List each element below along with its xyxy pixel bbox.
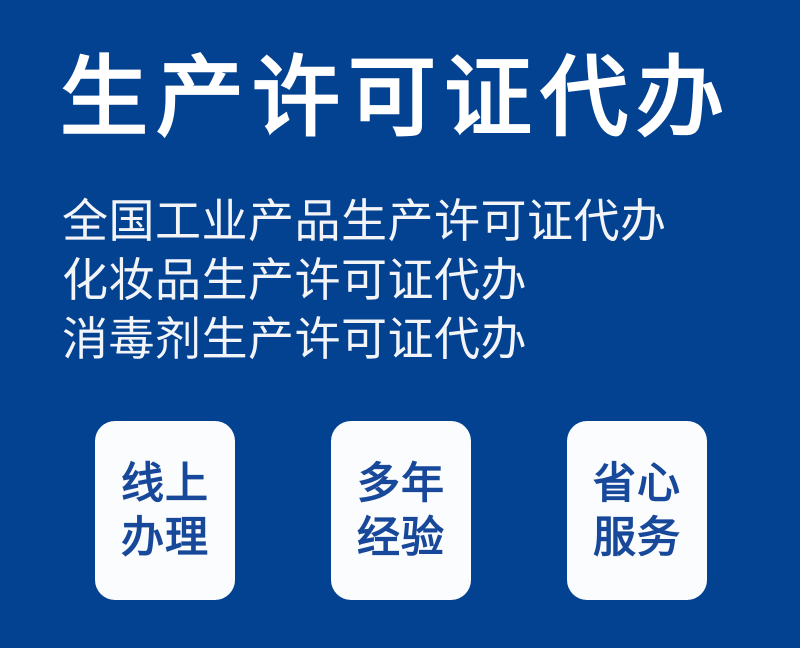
feature-card-line-2: 服务 <box>593 511 681 565</box>
feature-card-line-2: 办理 <box>121 511 209 565</box>
feature-card-worry-free-service[interactable]: 省心 服务 <box>567 421 707 600</box>
feature-card-years-experience[interactable]: 多年 经验 <box>331 421 471 600</box>
service-list-item: 化妆品生产许可证代办 <box>62 251 762 310</box>
promo-banner: 生产许可证代办 全国工业产品生产许可证代办 化妆品生产许可证代办 消毒剂生产许可… <box>0 0 800 648</box>
service-list: 全国工业产品生产许可证代办 化妆品生产许可证代办 消毒剂生产许可证代办 <box>62 192 762 369</box>
service-list-item: 全国工业产品生产许可证代办 <box>62 192 762 251</box>
page-title: 生产许可证代办 <box>60 48 760 148</box>
feature-card-line-1: 多年 <box>357 457 445 511</box>
feature-card-line-1: 省心 <box>593 457 681 511</box>
service-list-item: 消毒剂生产许可证代办 <box>62 310 762 369</box>
feature-card-online-handling[interactable]: 线上 办理 <box>95 421 235 600</box>
feature-card-group: 线上 办理 多年 经验 省心 服务 <box>95 421 707 600</box>
feature-card-line-2: 经验 <box>357 511 445 565</box>
feature-card-line-1: 线上 <box>121 457 209 511</box>
